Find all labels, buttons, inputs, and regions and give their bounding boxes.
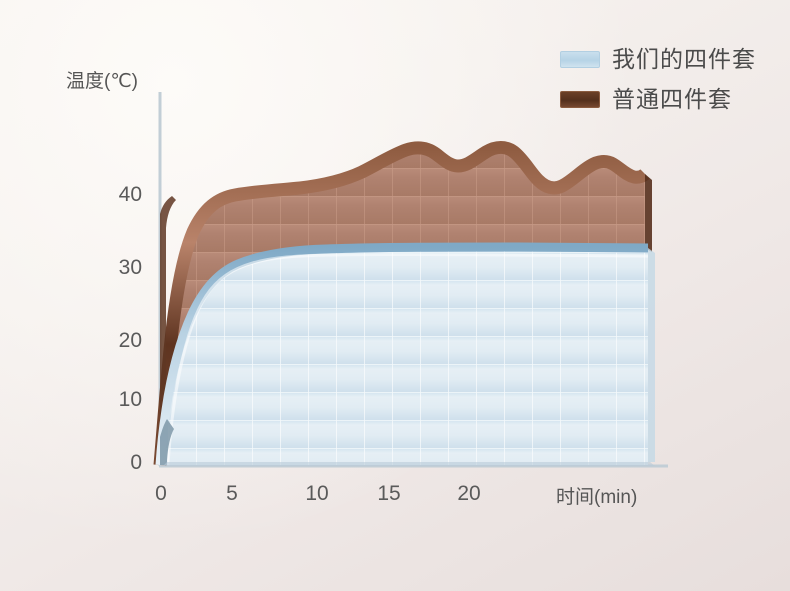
x-tick-10: 10 <box>305 482 328 506</box>
x-tick-15: 15 <box>377 482 400 506</box>
y-tick-40: 40 <box>96 183 142 207</box>
y-tick-0: 0 <box>96 451 142 475</box>
y-axis-ticks: 40 30 20 10 0 <box>96 0 142 591</box>
series-ours <box>155 235 660 470</box>
chart-canvas: 我们的四件套 普通四件套 温度(℃) 时间(min) <box>0 0 790 591</box>
x-tick-20: 20 <box>457 482 480 506</box>
y-tick-30: 30 <box>96 256 142 280</box>
x-tick-5: 5 <box>226 482 238 506</box>
y-tick-10: 10 <box>96 388 142 412</box>
x-tick-0: 0 <box>155 482 167 506</box>
y-tick-20: 20 <box>96 329 142 353</box>
